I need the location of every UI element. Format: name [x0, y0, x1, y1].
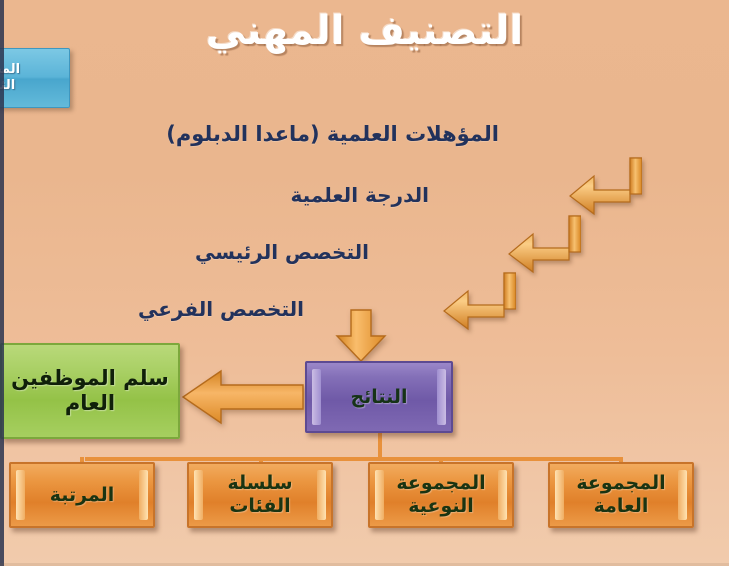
- elbow-arrow-2-icon: [507, 214, 581, 274]
- results-label: النتائج: [350, 386, 407, 409]
- cascade-step-degree: الدرجة العلمية: [291, 183, 429, 207]
- employee-scale-box[interactable]: سلم الموظفين العام: [0, 343, 180, 439]
- output-box-general-group[interactable]: المجموعة العامة: [548, 462, 694, 528]
- output-label: سلسلة الفئات: [201, 472, 319, 518]
- section-tab-text: المحور الثالث: [0, 49, 69, 107]
- section-tab-third-axis[interactable]: المحور الثالث: [0, 48, 70, 108]
- bevel-left: [16, 470, 25, 520]
- connector-horizontal-bus: [85, 457, 623, 461]
- cascade-step-major: التخصص الرئيسي: [195, 240, 369, 264]
- slide-left-edge: [0, 0, 4, 566]
- slide-canvas: التصنيف المهني المحور الثالث المؤهلات ال…: [0, 0, 729, 566]
- bevel-left: [312, 369, 321, 425]
- cascade-step-minor: التخصص الفرعي: [138, 297, 304, 321]
- cascade-step-qualifications: المؤهلات العلمية (ماعدا الدبلوم): [166, 122, 499, 146]
- results-box[interactable]: النتائج: [305, 361, 453, 433]
- bevel-right: [437, 369, 446, 425]
- down-arrow-to-results-icon: [333, 308, 389, 364]
- output-label: المجموعة النوعية: [382, 472, 500, 518]
- page-title: التصنيف المهني: [0, 8, 729, 54]
- output-box-rank[interactable]: المرتبة: [9, 462, 155, 528]
- elbow-arrow-1-icon: [568, 156, 642, 216]
- output-box-category-series[interactable]: سلسلة الفئات: [187, 462, 333, 528]
- output-box-qualitative-group[interactable]: المجموعة النوعية: [368, 462, 514, 528]
- elbow-arrow-3-icon: [442, 271, 516, 331]
- left-arrow-to-scale-icon: [181, 369, 305, 425]
- output-label: المرتبة: [50, 484, 115, 507]
- bevel-right: [139, 470, 148, 520]
- employee-scale-label: سلم الموظفين العام: [10, 366, 170, 416]
- output-label: المجموعة العامة: [562, 472, 680, 518]
